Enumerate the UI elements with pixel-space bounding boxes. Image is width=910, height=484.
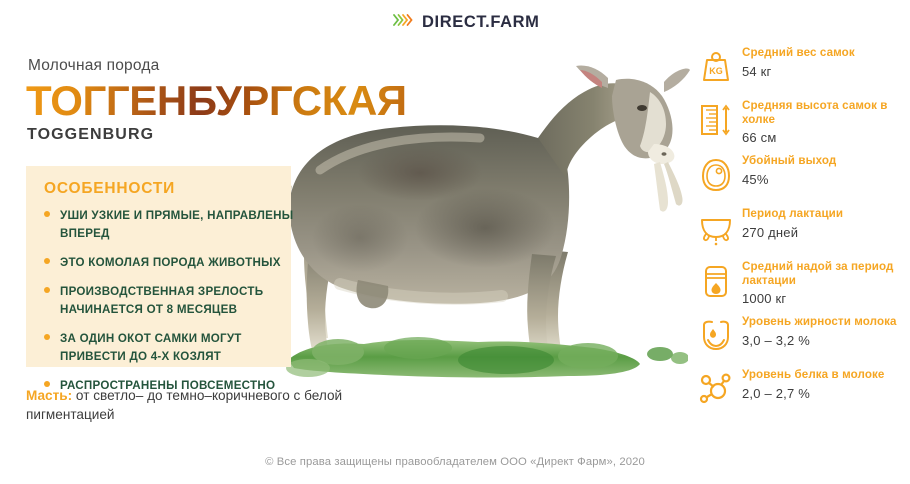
stat-label: Уровень белка в молоке xyxy=(742,368,898,382)
brand-logo[interactable]: DIRECT.FARM xyxy=(393,12,540,33)
stat-value: 1000 кг xyxy=(742,291,898,306)
stat-value: 2,0 – 2,7 % xyxy=(742,386,898,401)
meat-cut-icon xyxy=(698,156,734,194)
features-list: УШИ УЗКИЕ И ПРЯМЫЕ, НАПРАВЛЕНЫ ВПЕРЕД ЭТ… xyxy=(44,206,294,405)
features-heading: ОСОБЕННОСТИ xyxy=(44,180,175,198)
bullet-icon xyxy=(44,258,50,264)
list-item: ПРОИЗВОДСТВЕННАЯ ЗРЕЛОСТЬ НАЧИНАЕТСЯ ОТ … xyxy=(44,282,294,318)
feature-text: ПРОИЗВОДСТВЕННАЯ ЗРЕЛОСТЬ НАЧИНАЕТСЯ ОТ … xyxy=(60,285,263,316)
coat-color-text: от светло– до темно–коричневого с белой … xyxy=(26,388,342,422)
milk-can-icon xyxy=(698,262,734,300)
coat-color-label: Масть: xyxy=(26,388,72,403)
stat-value: 270 дней xyxy=(742,225,898,240)
protein-molecule-icon xyxy=(698,370,734,408)
bullet-icon xyxy=(44,211,50,217)
grass-illustration xyxy=(268,330,688,380)
bullet-icon xyxy=(44,287,50,293)
stat-average-height: Средняя высота самок в холке 66 см xyxy=(698,99,898,145)
stats-panel: KG Средний вес самок 54 кг Средняя высот… xyxy=(698,46,898,421)
coat-color-block: Масть: от светло– до темно–коричневого с… xyxy=(26,386,376,424)
stat-average-weight: KG Средний вес самок 54 кг xyxy=(698,46,898,90)
feature-text: ЗА ОДИН ОКОТ САМКИ МОГУТ ПРИВЕСТИ ДО 4-Х… xyxy=(60,332,242,363)
stat-average-milk-yield: Средний надой за период лактации 1000 кг xyxy=(698,260,898,306)
feature-text: ЭТО КОМОЛАЯ ПОРОДА ЖИВОТНЫХ xyxy=(60,256,281,269)
stat-value: 66 см xyxy=(742,130,898,145)
wave-chevrons-icon xyxy=(393,12,413,33)
stat-label: Средний надой за период лактации xyxy=(742,260,898,287)
stat-slaughter-yield: Убойный выход 45% xyxy=(698,154,898,198)
stat-label: Период лактации xyxy=(742,207,898,221)
udder-icon xyxy=(698,209,734,247)
stat-value: 3,0 – 3,2 % xyxy=(742,333,898,348)
list-item: ЭТО КОМОЛАЯ ПОРОДА ЖИВОТНЫХ xyxy=(44,253,294,271)
svg-text:KG: KG xyxy=(709,66,723,76)
stat-value: 45% xyxy=(742,172,898,187)
list-item: УШИ УЗКИЕ И ПРЯМЫЕ, НАПРАВЛЕНЫ ВПЕРЕД xyxy=(44,206,294,242)
stat-value: 54 кг xyxy=(742,64,898,79)
goat-illustration xyxy=(250,38,690,378)
weight-kg-icon: KG xyxy=(698,48,734,86)
breed-kind-label: Молочная порода xyxy=(28,57,159,75)
milk-fat-icon xyxy=(698,317,734,355)
brand-wordmark: DIRECT.FARM xyxy=(422,13,540,32)
stat-lactation-period: Период лактации 270 дней xyxy=(698,207,898,251)
breed-latin-name: TOGGENBURG xyxy=(27,126,154,144)
feature-text: УШИ УЗКИЕ И ПРЯМЫЕ, НАПРАВЛЕНЫ ВПЕРЕД xyxy=(60,209,293,240)
stat-label: Средний вес самок xyxy=(742,46,898,60)
footer-copyright: © Все права защищены правообладателем ОО… xyxy=(0,456,910,468)
ruler-height-icon xyxy=(698,101,734,139)
bullet-icon xyxy=(44,334,50,340)
stat-label: Убойный выход xyxy=(742,154,898,168)
stat-label: Уровень жирности молока xyxy=(742,315,898,329)
list-item: ЗА ОДИН ОКОТ САМКИ МОГУТ ПРИВЕСТИ ДО 4-Х… xyxy=(44,329,294,365)
stat-label: Средняя высота самок в холке xyxy=(742,99,898,126)
stat-milk-fat-level: Уровень жирности молока 3,0 – 3,2 % xyxy=(698,315,898,359)
stat-milk-protein-level: Уровень белка в молоке 2,0 – 2,7 % xyxy=(698,368,898,412)
